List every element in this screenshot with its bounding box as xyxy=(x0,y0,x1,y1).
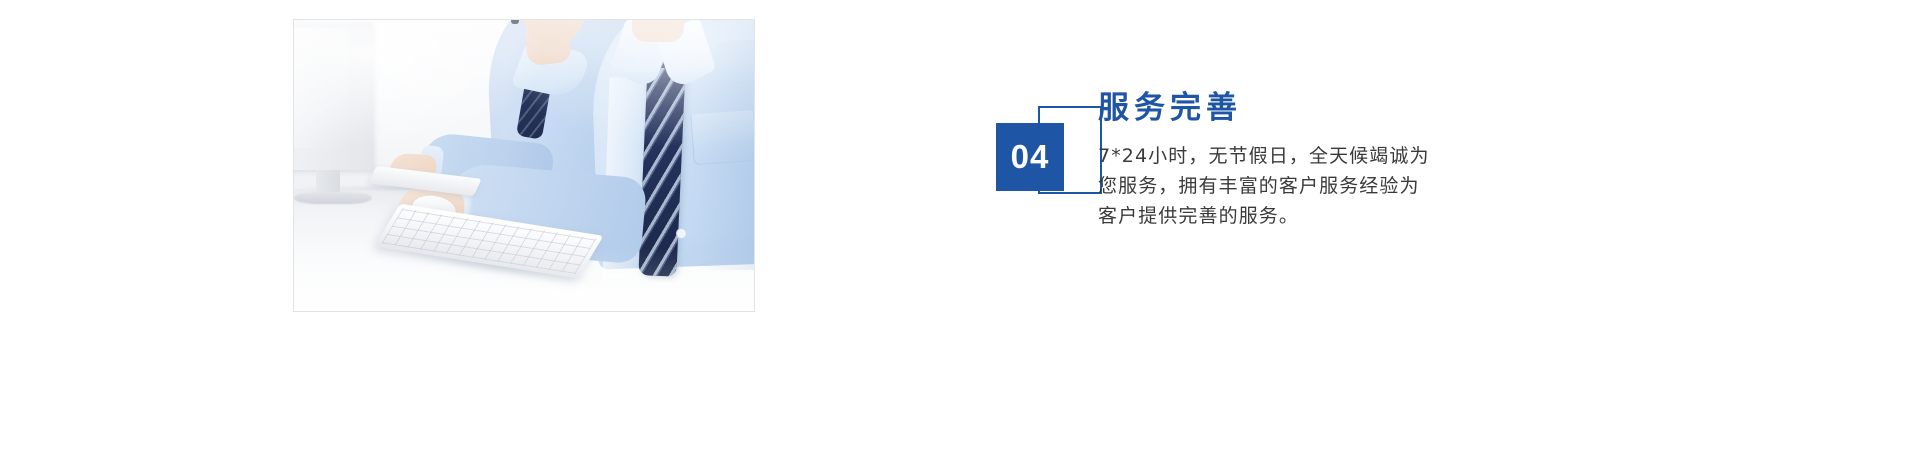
section-description: 7*24小时，无节假日，全天候竭诚为 您服务，拥有丰富的客户服务经验为 客户提供… xyxy=(1098,141,1568,231)
section-number-badge: 04 xyxy=(996,106,1104,198)
agent-front-shirt-pocket xyxy=(690,110,754,165)
promo-section: 04 服务完善 7*24小时，无节假日，全天候竭诚为 您服务，拥有丰富的客户服务… xyxy=(0,0,1920,452)
badge-number: 04 xyxy=(996,123,1064,191)
monitor-base xyxy=(294,192,372,204)
badge-filled-square: 04 xyxy=(996,123,1064,191)
monitor-screen xyxy=(294,28,348,148)
section-title: 服务完善 xyxy=(1098,88,1598,128)
description-line-3: 客户提供完善的服务。 xyxy=(1098,201,1568,231)
description-line-1: 7*24小时，无节假日，全天候竭诚为 xyxy=(1098,141,1568,171)
headset-microphone xyxy=(511,20,519,24)
agent-front-neck xyxy=(632,20,684,42)
agent-front-shirt-button xyxy=(676,228,687,239)
description-line-2: 您服务，拥有丰富的客户服务经验为 xyxy=(1098,171,1568,201)
photo-frame xyxy=(293,19,755,312)
call-center-photo xyxy=(294,20,754,311)
section-text-block: 服务完善 7*24小时，无节假日，全天候竭诚为 您服务，拥有丰富的客户服务经验为… xyxy=(1098,88,1598,231)
